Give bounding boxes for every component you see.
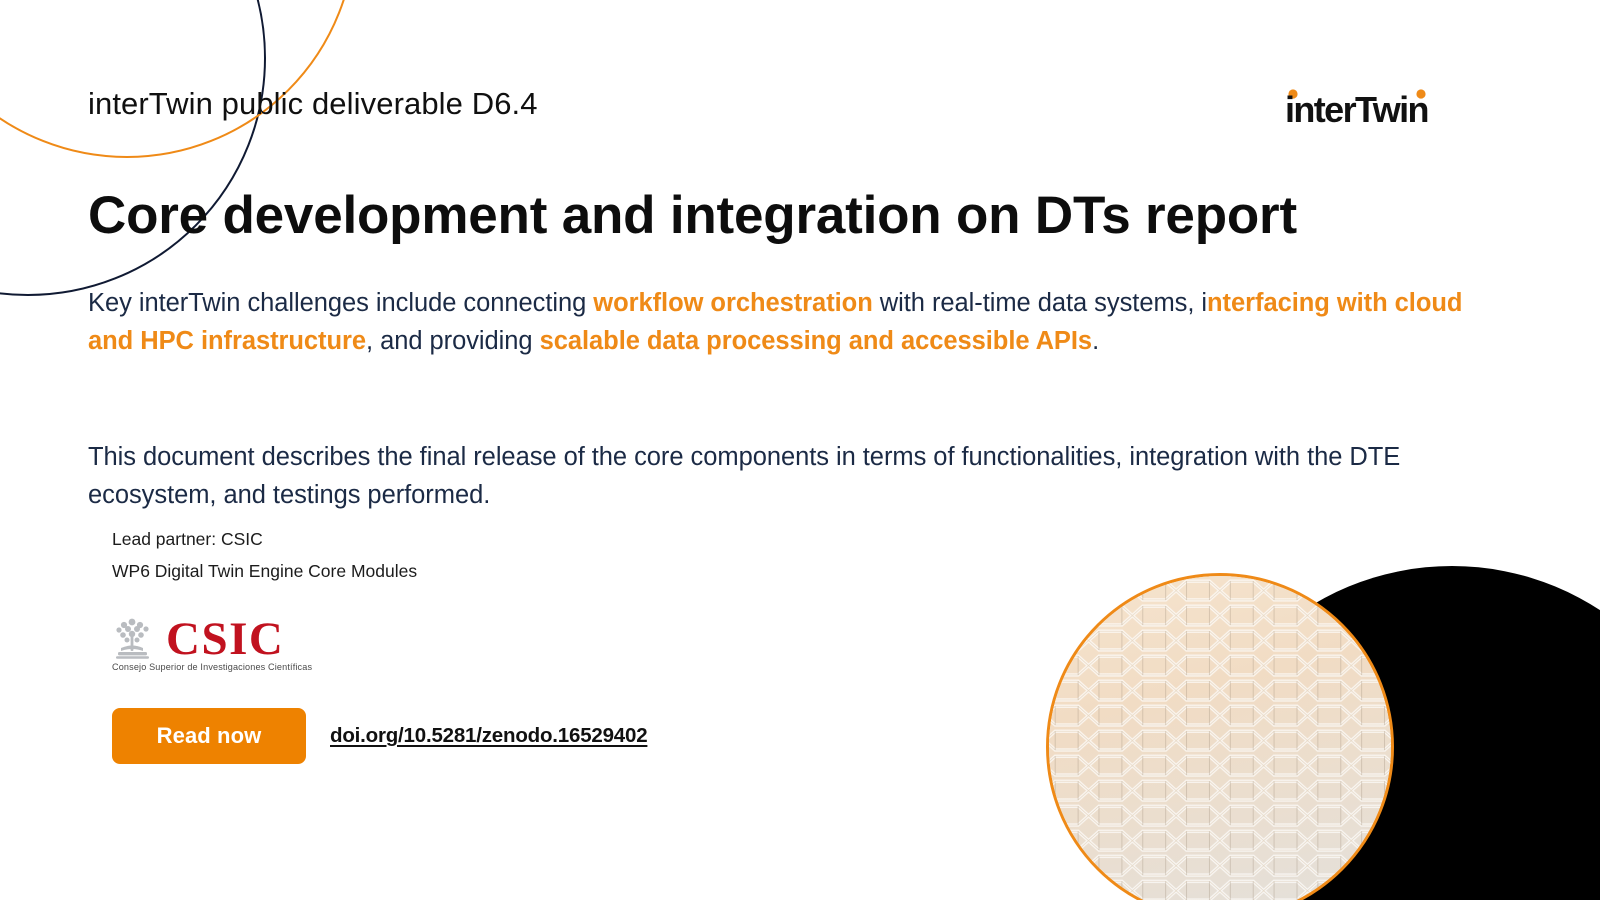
csic-coat-of-arms-icon (112, 616, 156, 660)
para1-seg-0: Key interTwin challenges include connect… (88, 289, 593, 317)
para1-seg-6: . (1092, 327, 1099, 355)
honeycomb-pattern-icon (1046, 573, 1394, 900)
deliverable-kicker: interTwin public deliverable D6.4 (88, 86, 538, 123)
svg-text:CSIC: CSIC (166, 613, 284, 665)
para1-seg-2: with real-time data systems, i (873, 289, 1207, 317)
csic-logo: CSIC Consejo Superior de Investigaciones… (110, 610, 360, 682)
honeycomb-lattice-photo (1046, 573, 1394, 900)
decorative-orange-circle (0, 0, 356, 158)
deliverable-card: interTwin public deliverable D6.4 Core d… (0, 0, 1600, 900)
svg-text:interTwin: interTwin (1285, 89, 1428, 128)
intertwin-logo: interTwin (1285, 88, 1485, 128)
work-package-label: WP6 Digital Twin Engine Core Modules (112, 560, 417, 583)
intertwin-wordmark-icon: interTwin (1285, 88, 1485, 128)
csic-logo-icon: CSIC Consejo Superior de Investigaciones… (110, 610, 360, 682)
intro-paragraph: Key interTwin challenges include connect… (88, 284, 1478, 362)
csic-tagline: Consejo Superior de Investigaciones Cien… (112, 662, 312, 672)
para1-highlight-workflow: workflow orchestration (593, 289, 872, 317)
para1-highlight-apis: scalable data processing and accessible … (540, 327, 1092, 355)
page-title: Core development and integration on DTs … (88, 186, 1297, 246)
read-now-button[interactable]: Read now (112, 708, 306, 764)
doi-link[interactable]: doi.org/10.5281/zenodo.16529402 (330, 724, 647, 748)
lead-partner-label: Lead partner: CSIC (112, 528, 263, 551)
para1-seg-4: , and providing (366, 327, 540, 355)
summary-paragraph: This document describes the final releas… (88, 438, 1448, 516)
